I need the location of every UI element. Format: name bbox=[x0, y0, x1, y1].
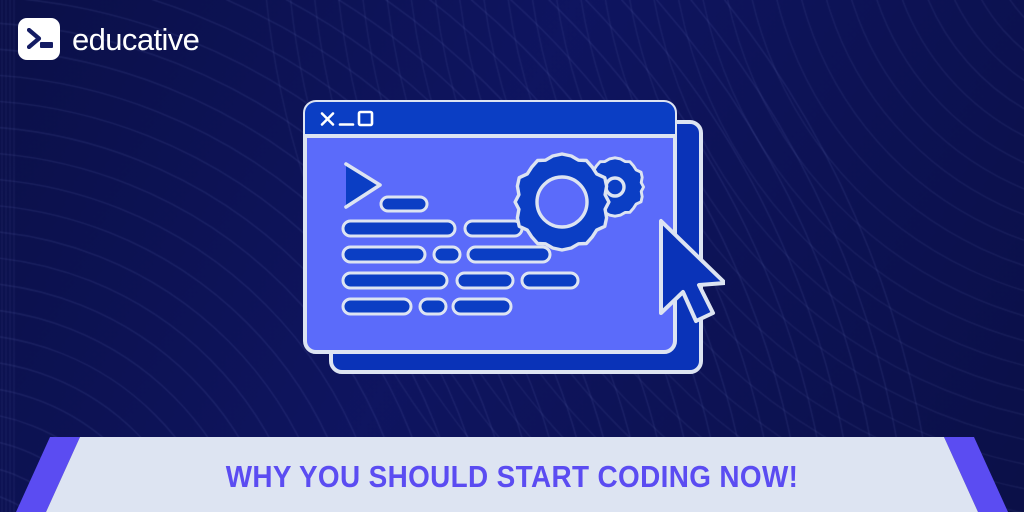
banner-headline: WHY YOU SHOULD START CODING NOW! bbox=[51, 437, 973, 512]
code-bar bbox=[453, 299, 511, 314]
gear-large bbox=[515, 154, 609, 250]
code-bar bbox=[343, 221, 455, 236]
code-bar bbox=[465, 221, 522, 236]
code-bar bbox=[457, 273, 513, 288]
brand-logo[interactable]: educative bbox=[18, 18, 199, 60]
prompt-caret-bar bbox=[381, 197, 427, 211]
brand-wordmark: educative bbox=[72, 24, 199, 55]
code-bar bbox=[522, 273, 578, 288]
window-titlebar bbox=[305, 102, 675, 136]
code-editor-window-illustration bbox=[295, 92, 725, 392]
code-bar bbox=[343, 299, 411, 314]
code-bar bbox=[434, 247, 460, 262]
terminal-prompt-icon bbox=[18, 18, 60, 60]
headline-banner: WHY YOU SHOULD START CODING NOW! bbox=[0, 437, 1024, 512]
code-bar bbox=[343, 273, 447, 288]
code-bar bbox=[420, 299, 446, 314]
code-bar bbox=[468, 247, 550, 262]
code-bar bbox=[343, 247, 425, 262]
underscore-glyph bbox=[40, 42, 53, 48]
